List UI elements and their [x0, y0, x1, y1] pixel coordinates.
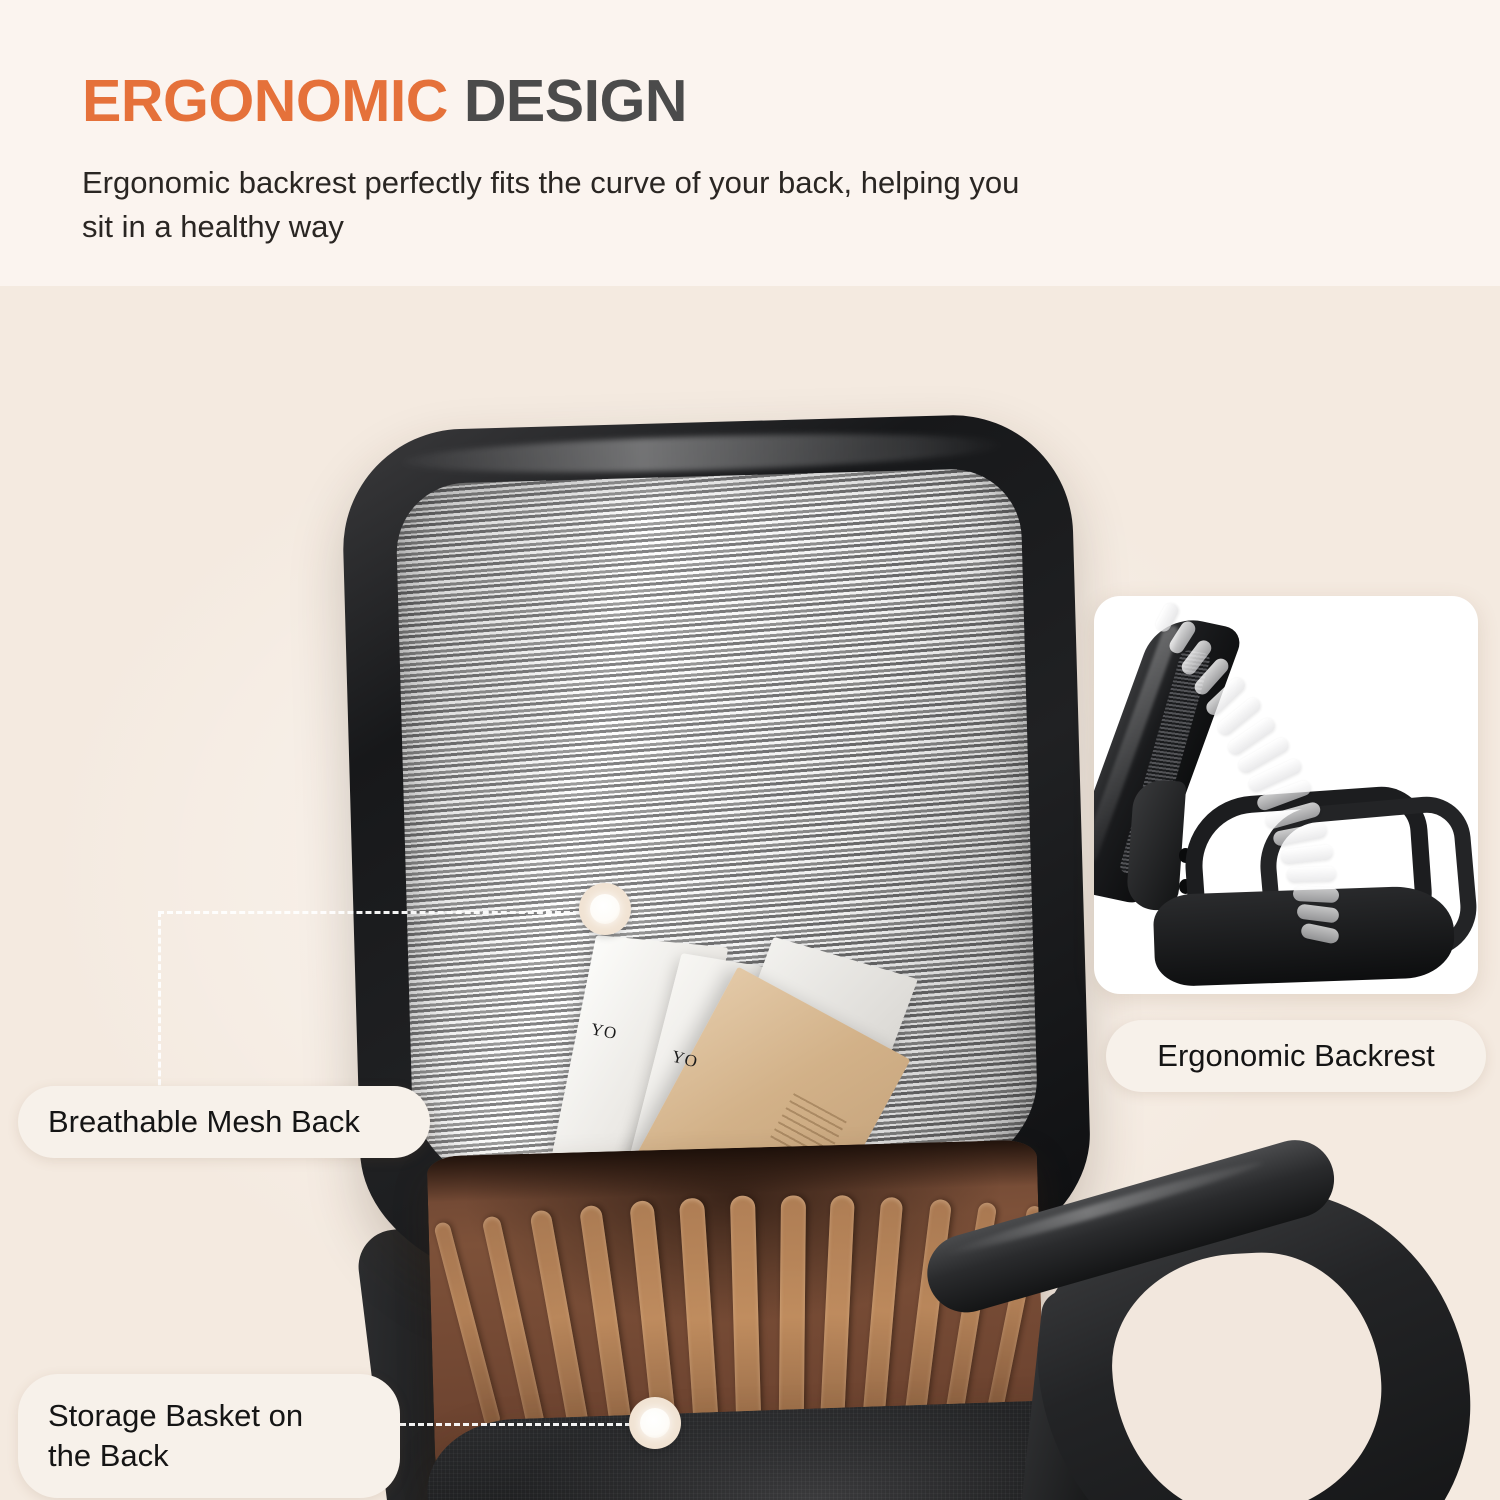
callout-line-mesh-vertical [158, 911, 161, 1103]
callout-label-basket[interactable]: Storage Basket on the Back [18, 1374, 400, 1498]
mesh-callout-dot-icon [579, 883, 631, 935]
vertebra-icon [1292, 885, 1339, 902]
title-highlight: ERGONOMIC [82, 68, 448, 134]
basket-callout-dot-icon [629, 1397, 681, 1449]
callout-label-mesh-text: Breathable Mesh Back [48, 1102, 360, 1142]
callout-label-basket-line1: Storage Basket on [48, 1398, 303, 1433]
vertebra-icon [1300, 922, 1340, 945]
header: ERGONOMIC DESIGN Ergonomic backrest perf… [82, 72, 1082, 249]
vertebra-icon [1297, 904, 1341, 924]
spine-overlay-graphic [1094, 596, 1478, 994]
callout-label-basket-line2: the Back [48, 1438, 169, 1473]
page-title: ERGONOMIC DESIGN [82, 72, 1082, 131]
title-secondary: DESIGN [464, 68, 687, 134]
callout-label-basket-text: Storage Basket on the Back [48, 1396, 303, 1475]
callout-line-basket [400, 1423, 640, 1426]
page-subtitle: Ergonomic backrest perfectly fits the cu… [82, 161, 1042, 249]
callout-label-backrest-text: Ergonomic Backrest [1157, 1036, 1434, 1076]
callout-label-mesh[interactable]: Breathable Mesh Back [18, 1086, 430, 1158]
inset-side-view-panel [1094, 596, 1478, 994]
callout-line-mesh-horizontal [158, 911, 588, 914]
callout-label-backrest[interactable]: Ergonomic Backrest [1106, 1020, 1486, 1092]
vertebra-icon [1280, 844, 1334, 865]
vertebra-icon [1287, 866, 1337, 883]
product-infographic: ERGONOMIC DESIGN Ergonomic backrest perf… [0, 0, 1500, 1500]
vertebra-icon [1153, 601, 1180, 635]
right-armrest [1029, 1180, 1480, 1500]
product-photo: YO YO [0, 286, 1500, 1500]
